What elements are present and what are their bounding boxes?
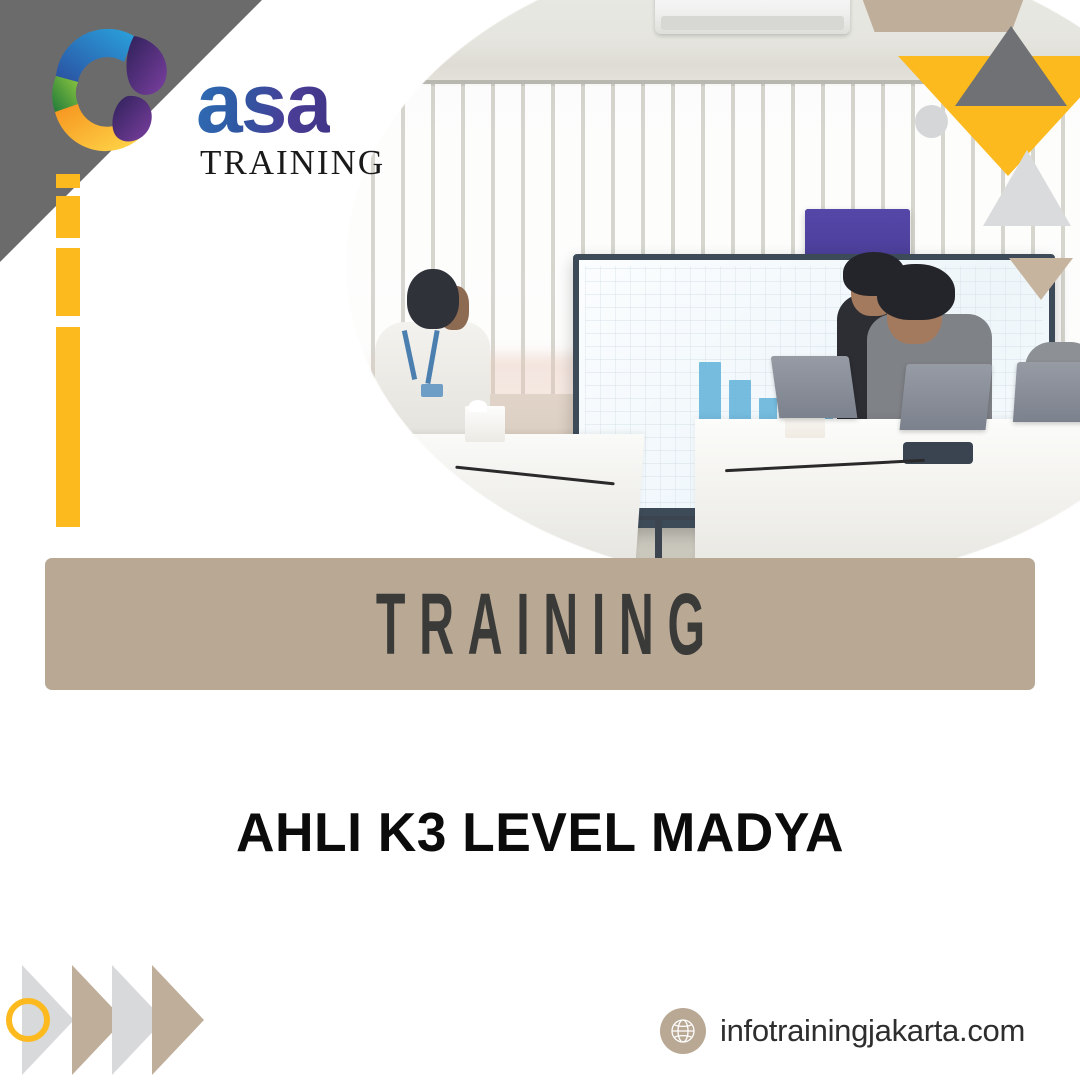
laptop-2 bbox=[900, 364, 993, 430]
laptop-1 bbox=[771, 356, 858, 418]
yellow-ring-icon bbox=[6, 998, 50, 1042]
yellow-dash-3 bbox=[56, 248, 80, 316]
grey-triangle-shape bbox=[955, 26, 1067, 106]
chevron-4-icon bbox=[152, 965, 204, 1075]
tan-small-triangle-shape bbox=[1009, 258, 1073, 300]
light-grey-triangle-shape bbox=[983, 150, 1071, 226]
attendee-2-head bbox=[877, 264, 955, 320]
logo-wordmark: asa bbox=[196, 66, 330, 142]
yellow-dash-2 bbox=[56, 196, 80, 238]
logo-subtitle: TRAINING bbox=[200, 143, 385, 183]
training-banner: TRAINING bbox=[45, 558, 1035, 690]
asa-training-logo[interactable]: asa TRAINING bbox=[38, 18, 368, 178]
laptop-3 bbox=[1013, 362, 1080, 422]
website-url: infotrainingjakarta.com bbox=[720, 1013, 1025, 1049]
training-banner-label: TRAINING bbox=[362, 580, 718, 667]
page-title: AHLI K3 LEVEL MADYA bbox=[16, 800, 1064, 864]
poster-canvas: 01 02 bbox=[0, 0, 1080, 1080]
tissue-box-left bbox=[465, 406, 505, 442]
display-leg-left bbox=[655, 516, 662, 564]
presenter-watch bbox=[387, 464, 409, 476]
presenter-badge bbox=[421, 384, 443, 397]
air-conditioner bbox=[655, 0, 850, 34]
presenter-head bbox=[407, 269, 459, 329]
yellow-bar-4 bbox=[56, 327, 80, 527]
circular-swoosh-logo-icon bbox=[38, 18, 193, 168]
grey-circle-shape bbox=[915, 105, 948, 138]
table-right bbox=[695, 419, 1080, 564]
globe-icon bbox=[660, 1008, 706, 1054]
footer-website[interactable]: infotrainingjakarta.com bbox=[660, 1008, 1025, 1054]
table-left bbox=[370, 434, 644, 564]
